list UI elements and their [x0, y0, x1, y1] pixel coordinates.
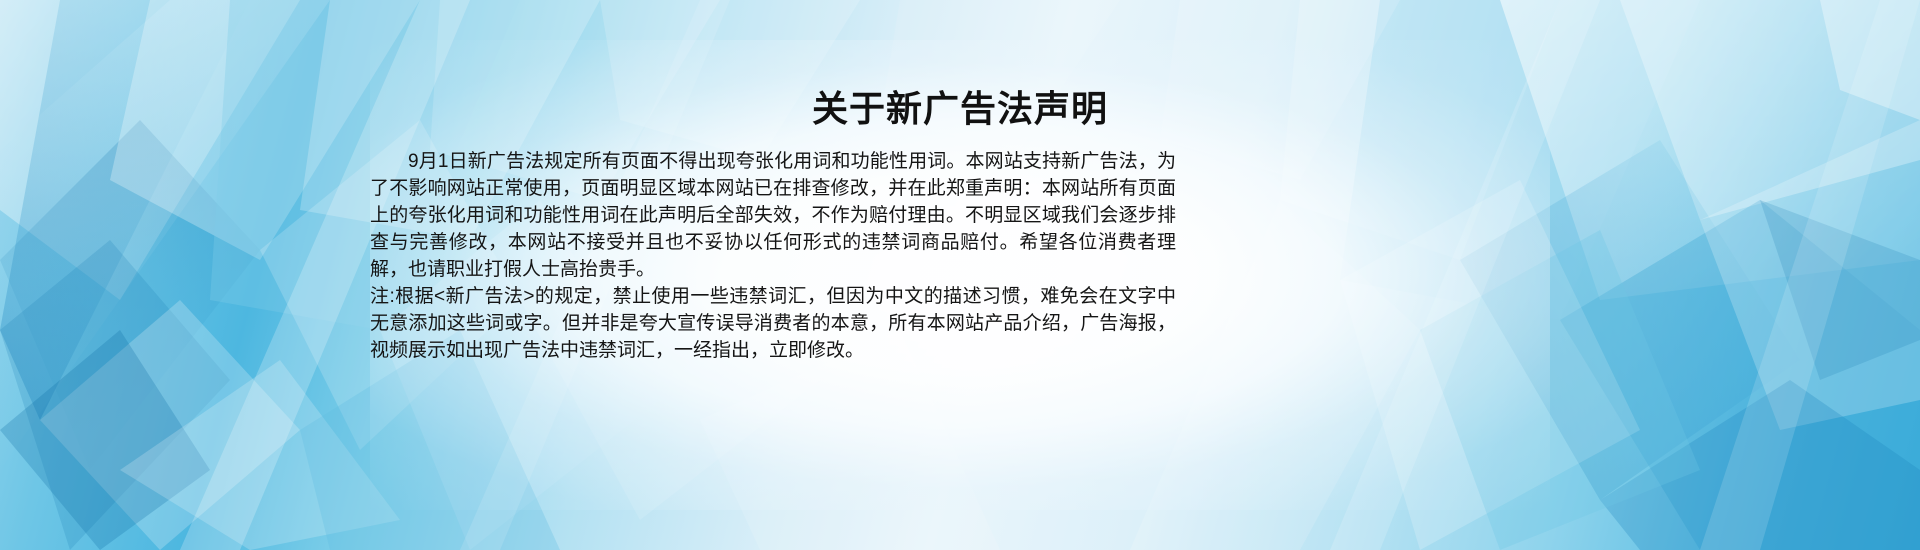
- page-title: 关于新广告法声明: [0, 86, 1920, 131]
- statement-paragraph-1: 9月1日新广告法规定所有页面不得出现夸张化用词和功能性用词。本网站支持新广告法，…: [370, 148, 1176, 283]
- statement-content: 关于新广告法声明 9月1日新广告法规定所有页面不得出现夸张化用词和功能性用词。本…: [0, 0, 1920, 550]
- statement-paragraph-2: 注:根据<新广告法>的规定，禁止使用一些违禁词汇，但因为中文的描述习惯，难免会在…: [370, 283, 1176, 364]
- advertising-law-statement-banner: 关于新广告法声明 9月1日新广告法规定所有页面不得出现夸张化用词和功能性用词。本…: [0, 0, 1920, 550]
- statement-body: 9月1日新广告法规定所有页面不得出现夸张化用词和功能性用词。本网站支持新广告法，…: [370, 148, 1176, 364]
